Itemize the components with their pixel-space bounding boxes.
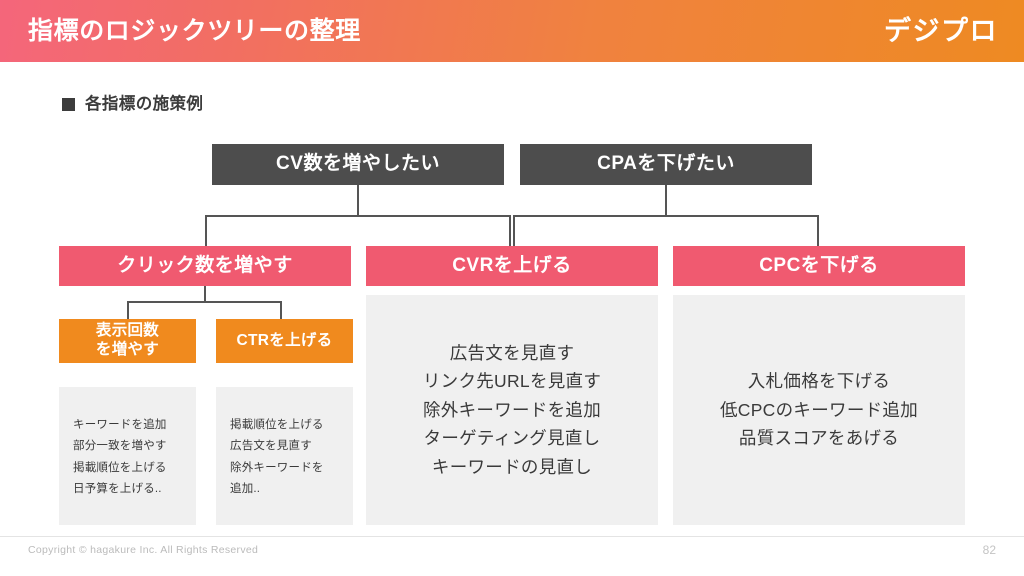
node-cv-increase[interactable]: CV数を増やしたい [212,144,504,185]
connector-cv-bar [205,215,511,217]
connector-cpa-stem [665,185,667,216]
panel-ctr-text: 掲載順位を上げる 広告文を見直す 除外キーワードを 追加.. [230,415,324,500]
slide-header: 指標のロジックツリーの整理 デジプロ [0,0,1024,62]
section-heading: 各指標の施策例 [62,96,203,113]
page-title: 指標のロジックツリーの整理 [28,19,361,44]
node-increase-impressions[interactable]: 表示回数 を増やす [59,319,196,363]
panel-cpc-tactics: 入札価格を下げる 低CPCのキーワード追加 品質スコアをあげる [673,295,965,525]
section-heading-label: 各指標の施策例 [85,96,203,113]
square-bullet-icon [62,98,75,111]
panel-cvr-tactics: 広告文を見直す リンク先URLを見直す 除外キーワードを追加 ターゲティング見直… [366,295,658,525]
connector-cv-to-cvr [509,215,511,246]
connector-cv-stem [357,185,359,216]
connector-cpa-bar [513,215,819,217]
connector-cpa-to-cvr [513,215,515,246]
copyright-text: Copyright © hagakure Inc. All Rights Res… [28,545,258,556]
node-increase-clicks[interactable]: クリック数を増やす [59,246,351,286]
brand-logo: デジプロ [884,18,998,45]
node-cpa-decrease[interactable]: CPAを下げたい [520,144,812,185]
page-number: 82 [983,544,996,556]
connector-cv-to-clicks [205,215,207,246]
panel-cvr-text: 広告文を見直す リンク先URLを見直す 除外キーワードを追加 ターゲティング見直… [423,339,601,481]
panel-impressions-tactics: キーワードを追加 部分一致を増やす 掲載順位を上げる 日予算を上げる.. [59,387,196,525]
slide-canvas: 指標のロジックツリーの整理 デジプロ 各指標の施策例 CV数を増やしたい CPA… [0,0,1024,576]
panel-ctr-tactics: 掲載順位を上げる 広告文を見直す 除外キーワードを 追加.. [216,387,353,525]
connector-clicks-to-impressions [127,301,129,320]
connector-cpa-to-cpc [817,215,819,246]
connector-clicks-to-ctr [280,301,282,320]
connector-clicks-bar [127,301,282,303]
node-increase-cvr[interactable]: CVRを上げる [366,246,658,286]
footer-divider [0,536,1024,537]
panel-cpc-text: 入札価格を下げる 低CPCのキーワード追加 品質スコアをあげる [720,367,918,452]
node-increase-ctr[interactable]: CTRを上げる [216,319,353,363]
connector-clicks-stem [204,286,206,302]
node-decrease-cpc[interactable]: CPCを下げる [673,246,965,286]
panel-impressions-text: キーワードを追加 部分一致を増やす 掲載順位を上げる 日予算を上げる.. [73,415,167,500]
